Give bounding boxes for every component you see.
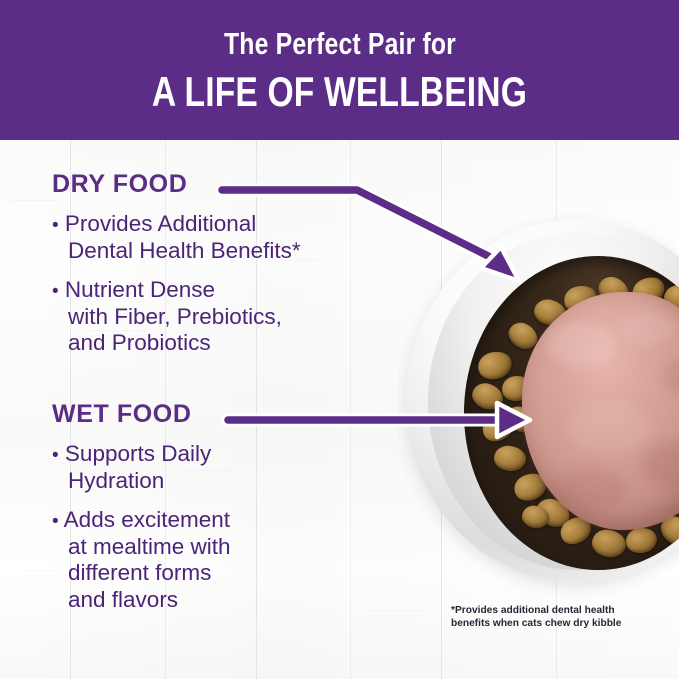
header-title-line1: The Perfect Pair for: [223, 28, 455, 59]
wet-food-bullet-2: • Adds excitement at mealtime with diffe…: [52, 507, 392, 613]
bowl-inner-rim: [428, 232, 679, 570]
wet-food-mound: [522, 292, 679, 530]
dry-food-bullet-1-line1: Provides Additional: [65, 211, 256, 236]
wet-food-bullet-2-line2: at mealtime with: [68, 534, 231, 559]
bowl-outer-rim: [406, 220, 679, 582]
header-banner: The Perfect Pair for A LIFE OF WELLBEING: [0, 0, 679, 140]
footnote: *Provides additional dental health benef…: [451, 604, 675, 630]
bullet-glyph: •: [52, 281, 59, 302]
wet-food-bullet-2-line4: and flavors: [68, 587, 178, 612]
kibble-piece: [590, 527, 629, 560]
bullet-glyph: •: [52, 511, 59, 532]
dry-food-bullet-1: • Provides Additional Dental Health Bene…: [52, 211, 392, 264]
wet-food-heading: WET FOOD: [52, 402, 392, 427]
promo-graphic: The Perfect Pair for A LIFE OF WELLBEING: [0, 0, 679, 679]
wet-food-bullet-2-line1: Adds excitement: [64, 507, 230, 532]
section-dry-food: DRY FOOD • Provides Additional Dental He…: [52, 172, 392, 370]
cat-food-bowl-photo: [398, 140, 679, 610]
dry-food-bullet-1-line2: Dental Health Benefits*: [68, 238, 301, 263]
dry-food-bullet-2-line1: Nutrient Dense: [65, 277, 215, 302]
kibble-piece: [624, 526, 658, 555]
header-title-line2: A LIFE OF WELLBEING: [152, 71, 527, 113]
wet-food-bullet-1: • Supports Daily Hydration: [52, 441, 392, 494]
wet-food-bullet-1-line1: Supports Daily: [65, 441, 211, 466]
bullet-glyph: •: [52, 445, 59, 466]
footnote-line1: *Provides additional dental health: [451, 604, 675, 617]
dry-food-bullet-2-line3: and Probiotics: [68, 330, 211, 355]
wet-food-bullet-2-line3: different forms: [68, 560, 211, 585]
footnote-line2: benefits when cats chew dry kibble: [451, 617, 675, 630]
dry-food-bullet-2-line2: with Fiber, Prebiotics,: [68, 304, 282, 329]
bowl-interior: [464, 256, 679, 570]
bullet-glyph: •: [52, 215, 59, 236]
kibble-piece: [492, 444, 527, 473]
wet-food-bullet-1-line2: Hydration: [68, 468, 164, 493]
copy-column: DRY FOOD • Provides Additional Dental He…: [0, 140, 400, 679]
dry-food-bullet-2: • Nutrient Dense with Fiber, Prebiotics,…: [52, 277, 392, 357]
dry-food-heading: DRY FOOD: [52, 172, 392, 197]
section-wet-food: WET FOOD • Supports Daily Hydration • Ad…: [52, 402, 392, 626]
kibble-piece: [468, 379, 506, 414]
